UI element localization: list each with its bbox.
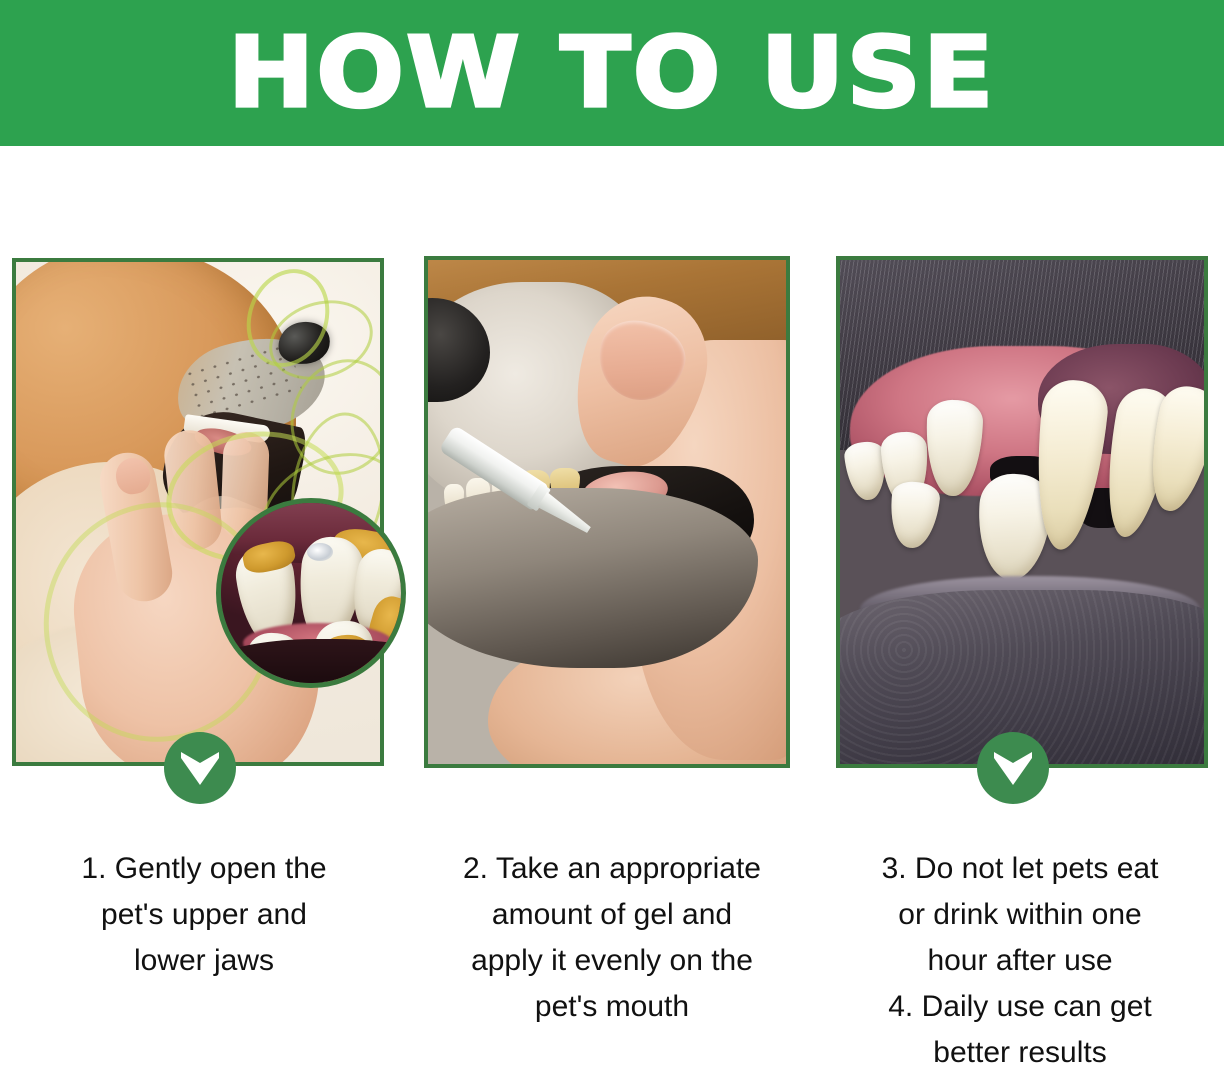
caption-line: 4. Daily use can get bbox=[830, 984, 1210, 1030]
inset-tooth-shine bbox=[307, 543, 333, 561]
step-2-caption: 2. Take an appropriate amount of gel and… bbox=[408, 846, 816, 1030]
tartar-closeup-inset bbox=[216, 498, 406, 688]
caption-line: amount of gel and bbox=[422, 892, 802, 938]
caption-line: pet's mouth bbox=[422, 984, 802, 1030]
step-panel-1 bbox=[0, 146, 408, 846]
caption-line: better results bbox=[830, 1030, 1210, 1076]
steps-gallery bbox=[0, 146, 1224, 846]
step-1-chevron-badge bbox=[164, 732, 236, 804]
caption-line: apply it evenly on the bbox=[422, 938, 802, 984]
chevron-down-icon bbox=[179, 749, 221, 787]
inset-lower-lip bbox=[216, 639, 406, 688]
step-1-caption: 1. Gently open the pet's upper and lower… bbox=[0, 846, 408, 984]
caption-line: 1. Gently open the bbox=[14, 846, 394, 892]
caption-line: 3. Do not let pets eat bbox=[830, 846, 1210, 892]
caption-line: or drink within one bbox=[830, 892, 1210, 938]
header-banner: HOW TO USE bbox=[0, 0, 1224, 146]
step-2-chevron-badge bbox=[977, 732, 1049, 804]
step-panel-2 bbox=[408, 146, 816, 846]
caption-line: lower jaws bbox=[14, 938, 394, 984]
steps-captions: 1. Gently open the pet's upper and lower… bbox=[0, 846, 1224, 1080]
page-title: HOW TO USE bbox=[228, 24, 996, 122]
step-3-photo-frame bbox=[836, 256, 1208, 768]
step-2-photo bbox=[428, 260, 786, 764]
caption-line: 2. Take an appropriate bbox=[422, 846, 802, 892]
chevron-down-icon bbox=[992, 749, 1034, 787]
step-3-photo bbox=[840, 260, 1204, 764]
step-2-photo-frame bbox=[424, 256, 790, 768]
caption-line: hour after use bbox=[830, 938, 1210, 984]
step-3-caption: 3. Do not let pets eat or drink within o… bbox=[816, 846, 1224, 1076]
caption-line: pet's upper and bbox=[14, 892, 394, 938]
